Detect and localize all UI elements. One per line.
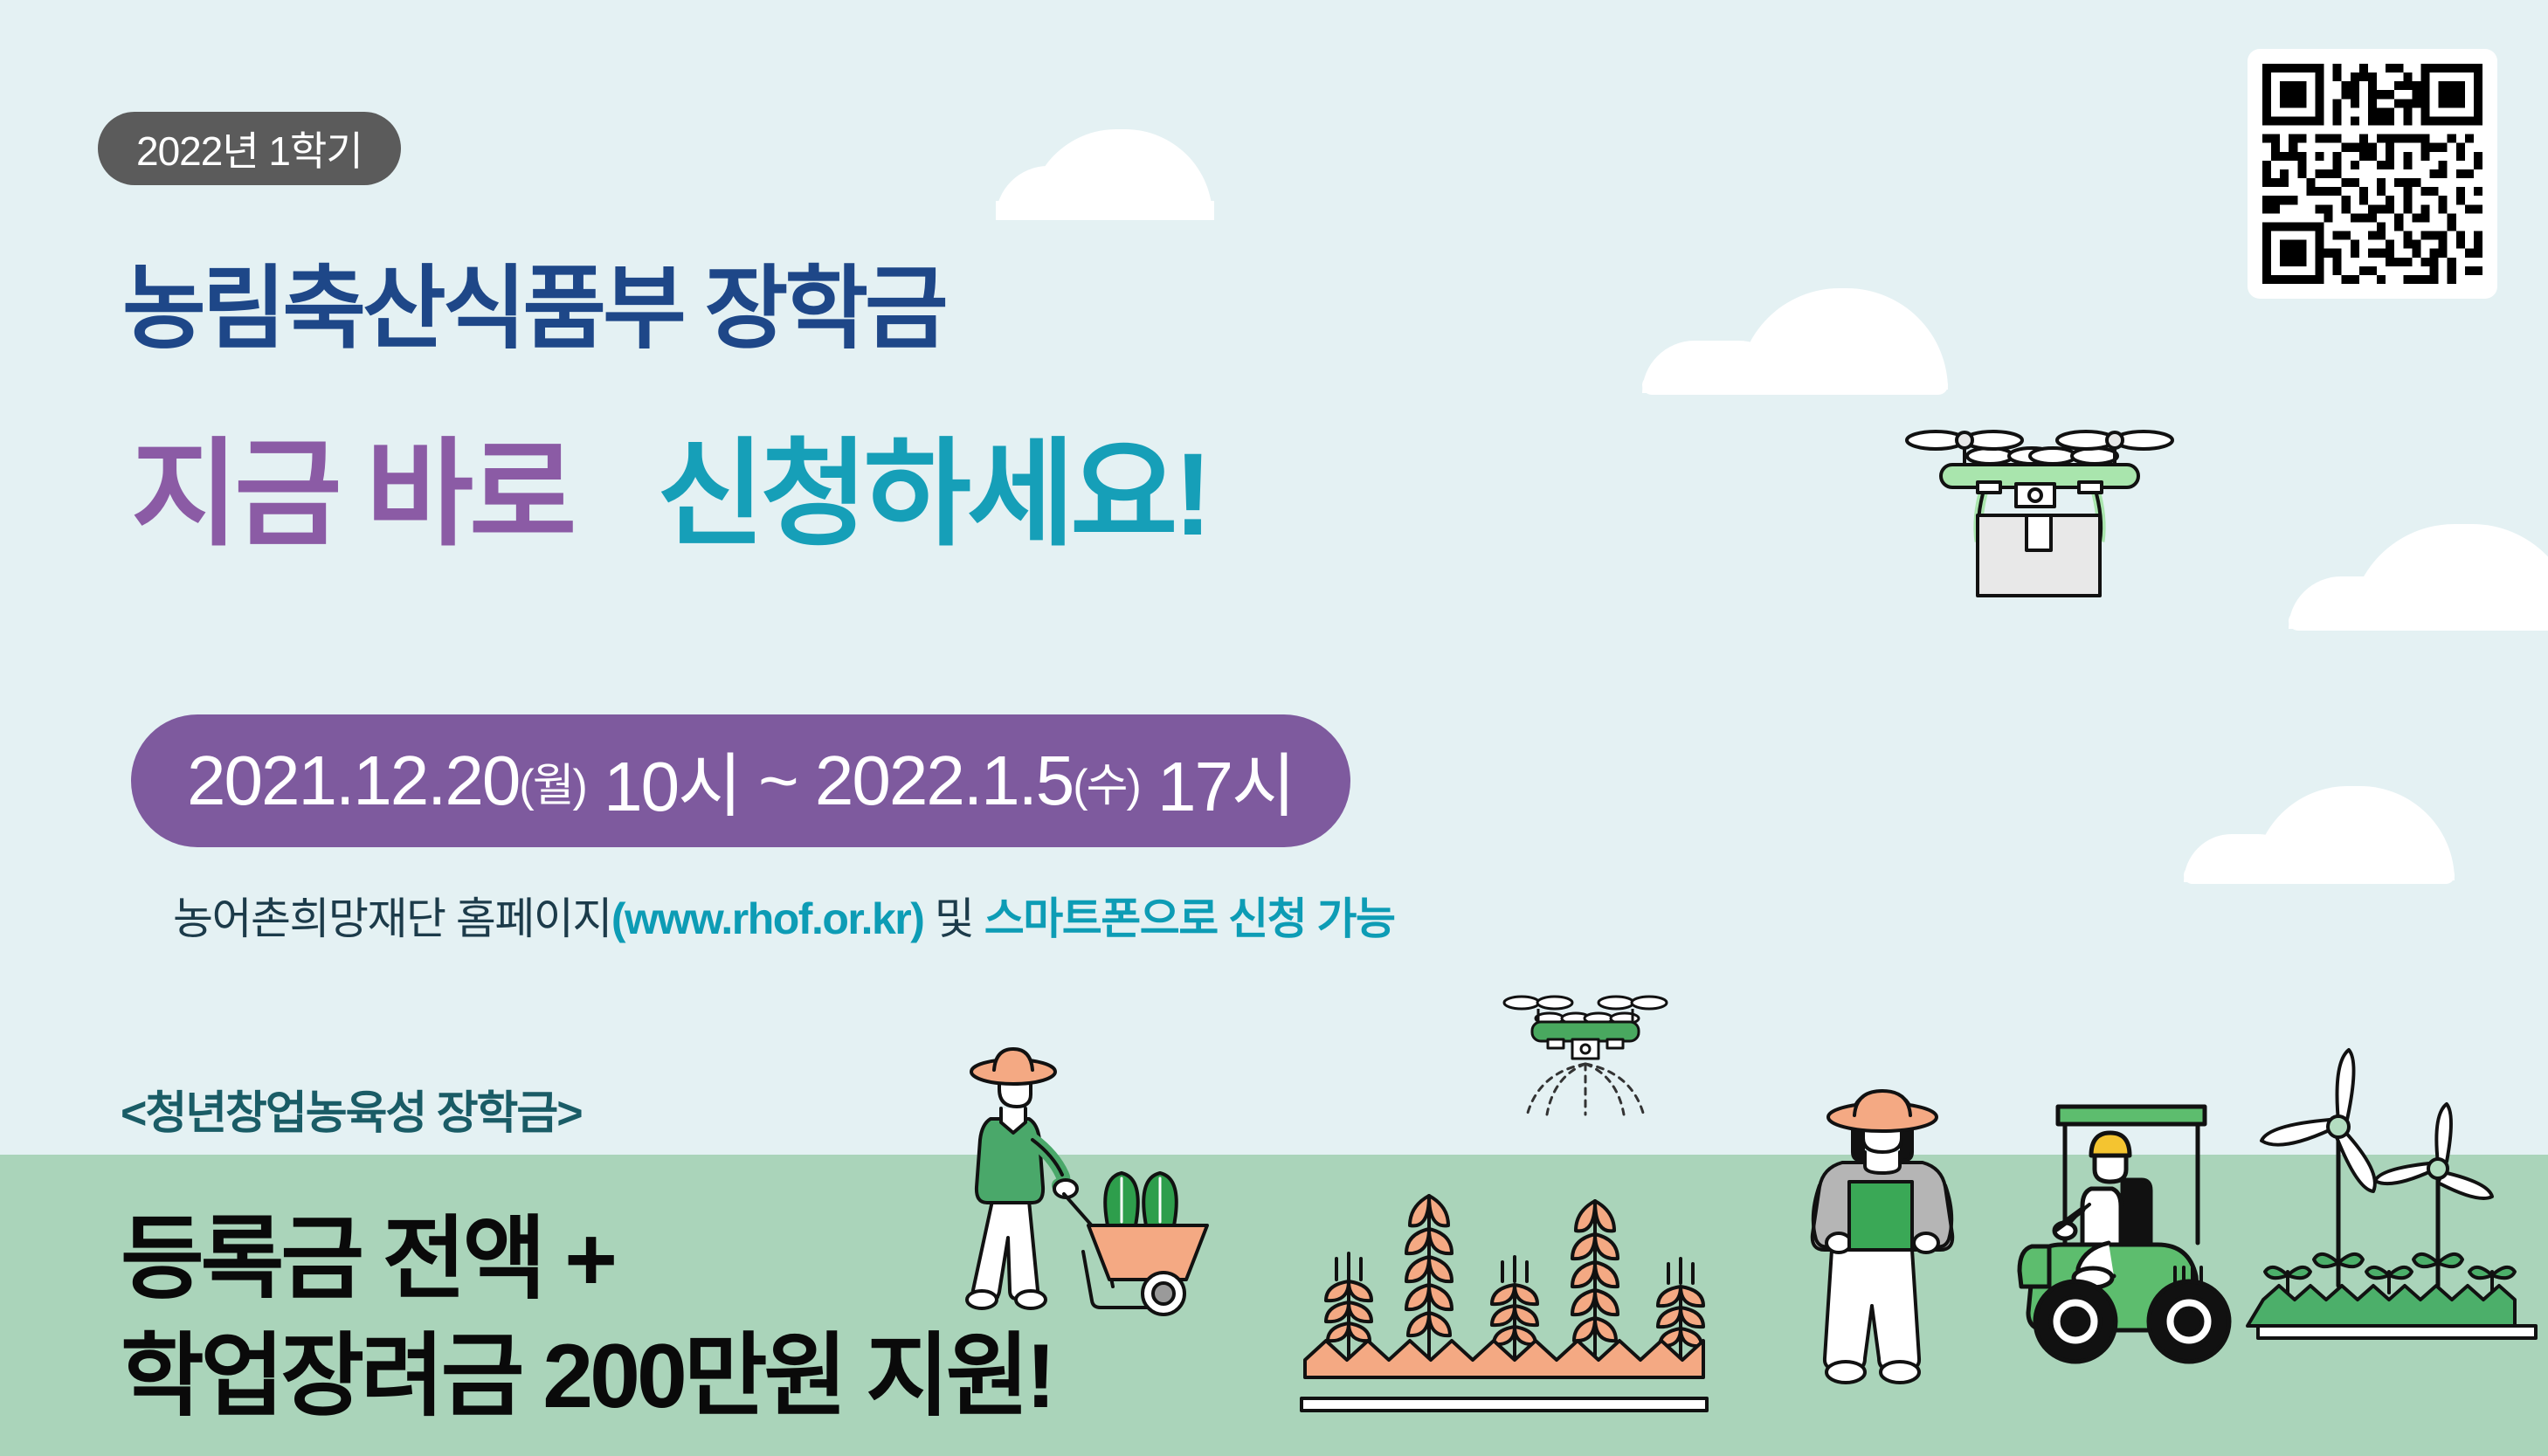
cloud-icon xyxy=(1642,376,1948,395)
delivery-drone-illustration xyxy=(1887,411,2184,629)
qr-code-card[interactable] xyxy=(2248,49,2497,299)
semester-badge: 2022년 1학기 xyxy=(98,112,401,185)
farmer-wheelbarrow-icon xyxy=(961,1035,1223,1323)
scholarship-name: <청년창업농육성 장학금> xyxy=(121,1076,582,1142)
farmer-tablet-icon xyxy=(1778,1079,1987,1402)
headline-line-2-part-2: 신청하세요! xyxy=(657,430,1208,560)
poster-canvas: 2022년 1학기 농림축산식품부 장학금 지금 바로 신청하세요! 2021.… xyxy=(0,0,2548,1456)
spray-drone-illustration xyxy=(1495,985,1679,1125)
wheat-field-illustration xyxy=(1302,1157,1791,1419)
headline-line-2-part-1: 지금 바로 xyxy=(131,430,572,560)
apply-note: 농어촌희망재단 홈페이지(www.rhof.or.kr) 및 스마트폰으로 신청… xyxy=(173,884,1395,947)
period-start-day: (월) xyxy=(519,749,585,814)
period-end-date: 2022.1.5 xyxy=(815,741,1073,821)
period-separator: ~ xyxy=(758,741,798,821)
application-period-pill: 2021.12.20(월) 10시 ~ 2022.1.5(수) 17시 xyxy=(131,714,1350,847)
period-end-day: (수) xyxy=(1073,749,1139,814)
benefit-line-2: 학업장려금 200만원 지원! xyxy=(121,1301,1053,1433)
wind-turbines-illustration xyxy=(2258,1046,2548,1396)
cloud-icon xyxy=(2184,866,2455,884)
cloud-icon xyxy=(2289,611,2548,631)
farmer-tablet-illustration xyxy=(1778,1079,1987,1402)
period-end-time: 17시 xyxy=(1157,730,1295,832)
period-start-time: 10시 xyxy=(604,730,741,832)
farmer-wheelbarrow-illustration xyxy=(961,1035,1223,1323)
headline-line-2: 지금 바로 신청하세요! xyxy=(131,437,1208,554)
benefit-line-1: 등록금 전액 + xyxy=(121,1184,614,1316)
apply-note-prefix: 농어촌희망재단 홈페이지 xyxy=(173,894,611,943)
spray-drone-icon xyxy=(1495,985,1679,1125)
period-start-date: 2021.12.20 xyxy=(187,741,519,821)
apply-note-url[interactable]: (www.rhof.or.kr) xyxy=(611,894,924,943)
wheat-field-icon xyxy=(1302,1157,1791,1419)
delivery-drone-icon xyxy=(1887,411,2184,629)
wind-turbines-icon xyxy=(2258,1046,2548,1396)
qr-code-icon xyxy=(2262,64,2482,284)
apply-note-suffix: 스마트폰으로 신청 가능 xyxy=(984,894,1395,943)
cloud-icon xyxy=(996,201,1214,220)
apply-note-middle: 및 xyxy=(923,894,984,943)
headline-line-1: 농림축산식품부 장학금 xyxy=(122,234,945,366)
